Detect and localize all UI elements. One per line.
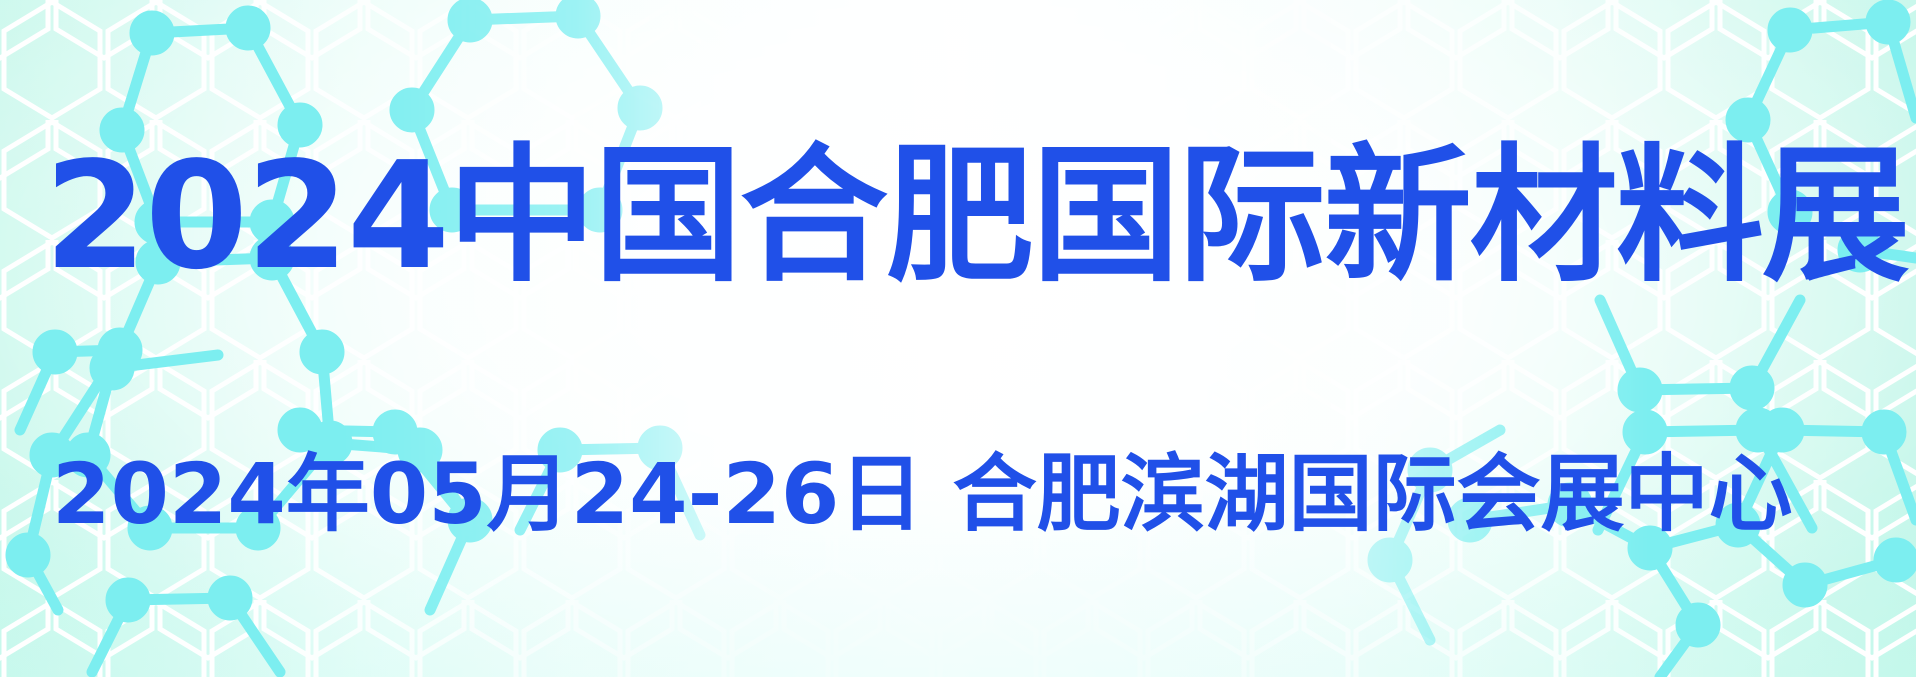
banner-title: 2024中国合肥国际新材料展 xyxy=(44,142,1908,290)
banner-subtitle: 2024年05月24-26日 合肥滨湖国际会展中心 xyxy=(52,452,1793,536)
exhibition-banner: 2024中国合肥国际新材料展 2024年05月24-26日 合肥滨湖国际会展中心 xyxy=(0,0,1916,677)
banner-text-group: 2024中国合肥国际新材料展 2024年05月24-26日 合肥滨湖国际会展中心 xyxy=(0,0,1916,677)
